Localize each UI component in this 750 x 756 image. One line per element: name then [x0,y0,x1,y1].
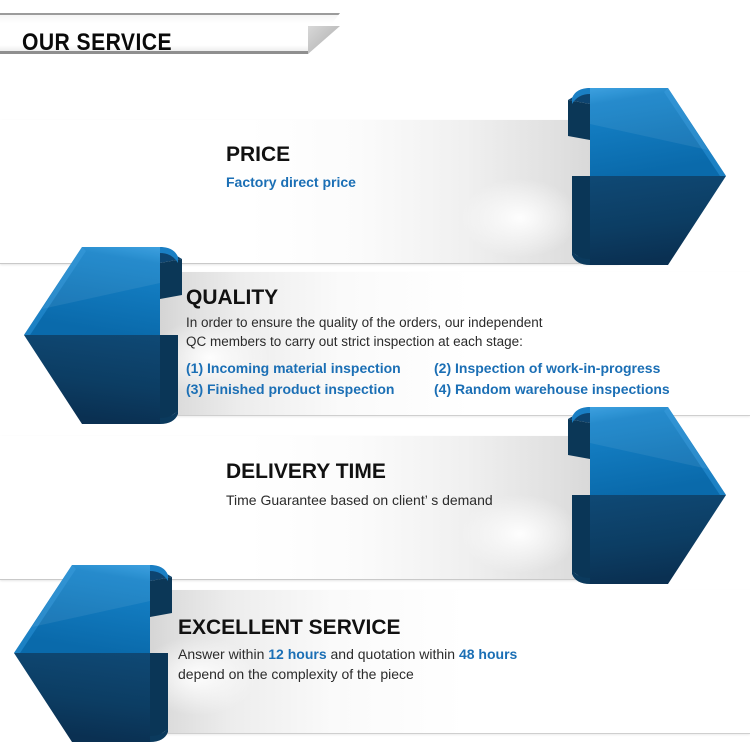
text-fragment-3: 48 hours [459,646,517,662]
text-fragment-2: and quotation within [327,646,459,662]
section-line-quality-1: QC members to carry out strict inspectio… [186,332,670,352]
section-text-quality: QUALITY In order to ensure the quality o… [186,286,670,400]
arrow-left-quality-icon [22,243,182,428]
quality-item-3: (3) Finished product inspection [186,379,434,400]
section-title-delivery-time: DELIVERY TIME [226,460,493,484]
header-banner: OUR SERVICE [0,13,340,54]
quality-item-4: (4) Random warehouse inspections [434,381,670,397]
text-fragment-1: 12 hours [268,646,326,662]
section-rich-line-excellent-service-1: depend on the complexity of the piece [178,664,517,684]
text-fragment-0: Answer within [178,646,268,662]
section-text-delivery-time: DELIVERY TIME Time Guarantee based on cl… [226,460,493,510]
page-title: OUR SERVICE [22,29,172,57]
section-title-price: PRICE [226,143,356,167]
section-title-quality: QUALITY [186,286,670,310]
header-banner-fold-triangle-icon [308,26,340,54]
section-line-price-0: Factory direct price [226,172,356,192]
quality-list-row-2: (3) Finished product inspection(4) Rando… [186,379,670,400]
quality-list-row-1: (1) Incoming material inspection(2) Insp… [186,358,670,379]
arrow-left-excellent-service-icon [12,561,172,746]
poster-canvas: OUR SERVICE [0,0,750,756]
arrow-right-delivery-time-icon [568,403,728,588]
section-text-price: PRICE Factory direct price [226,143,356,192]
arrow-right-price-icon [568,84,728,269]
quality-item-2: (2) Inspection of work-in-progress [434,360,660,376]
text-fragment-0: depend on the complexity of the piece [178,666,414,682]
section-line-quality-0: In order to ensure the quality of the or… [186,313,670,333]
section-text-excellent-service: EXCELLENT SERVICE Answer within 12 hours… [178,616,517,684]
section-line-delivery-time-0: Time Guarantee based on client’ s demand [226,490,493,510]
quality-item-1: (1) Incoming material inspection [186,358,434,379]
section-rich-line-excellent-service-0: Answer within 12 hours and quotation wit… [178,644,517,664]
section-title-excellent-service: EXCELLENT SERVICE [178,616,517,640]
